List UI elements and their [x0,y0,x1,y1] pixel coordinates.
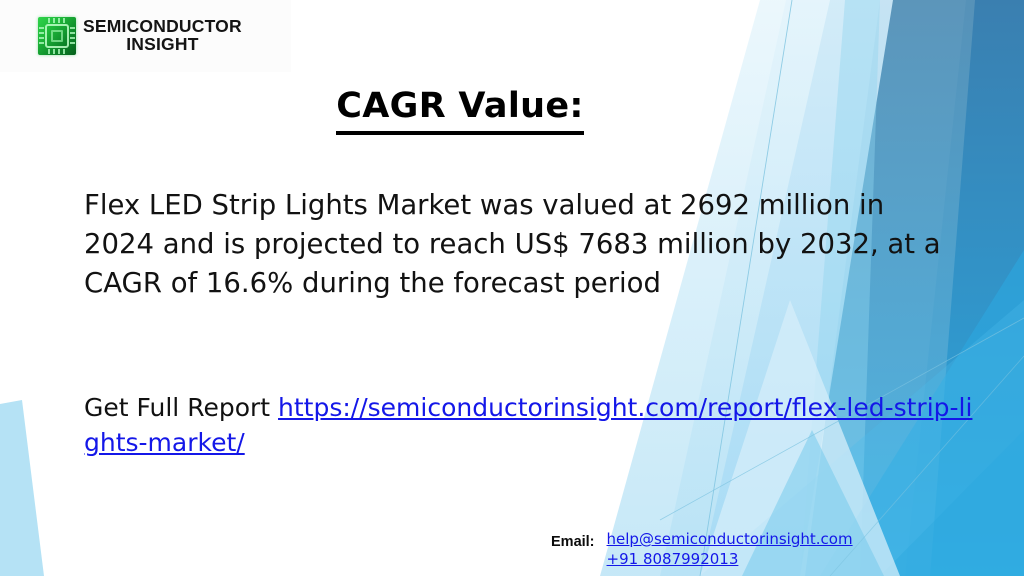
page-title-text: CAGR Value: [336,86,583,135]
body-paragraph: Flex LED Strip Lights Market was valued … [84,186,954,303]
phone-link[interactable]: +91 8087992013 [607,549,853,569]
semiconductor-chip-icon [38,17,76,55]
slide-content: CAGR Value: Flex LED Strip Lights Market… [0,0,1024,576]
contact-footer: Email: help@semiconductorinsight.com +91… [551,529,853,569]
brand-line-2: INSIGHT [83,36,242,54]
brand-name: SEMICONDUCTOR INSIGHT [83,18,242,54]
report-label: Get Full Report [84,393,278,422]
brand-logo: SEMICONDUCTOR INSIGHT [0,0,291,72]
report-line: Get Full Report https://semiconductorins… [84,390,974,460]
page-title: CAGR Value: [0,86,920,126]
contact-values: help@semiconductorinsight.com +91 808799… [607,529,853,569]
email-link[interactable]: help@semiconductorinsight.com [607,529,853,549]
email-label: Email: [551,529,595,550]
slide: SEMICONDUCTOR INSIGHT CAGR Value: Flex L… [0,0,1024,576]
